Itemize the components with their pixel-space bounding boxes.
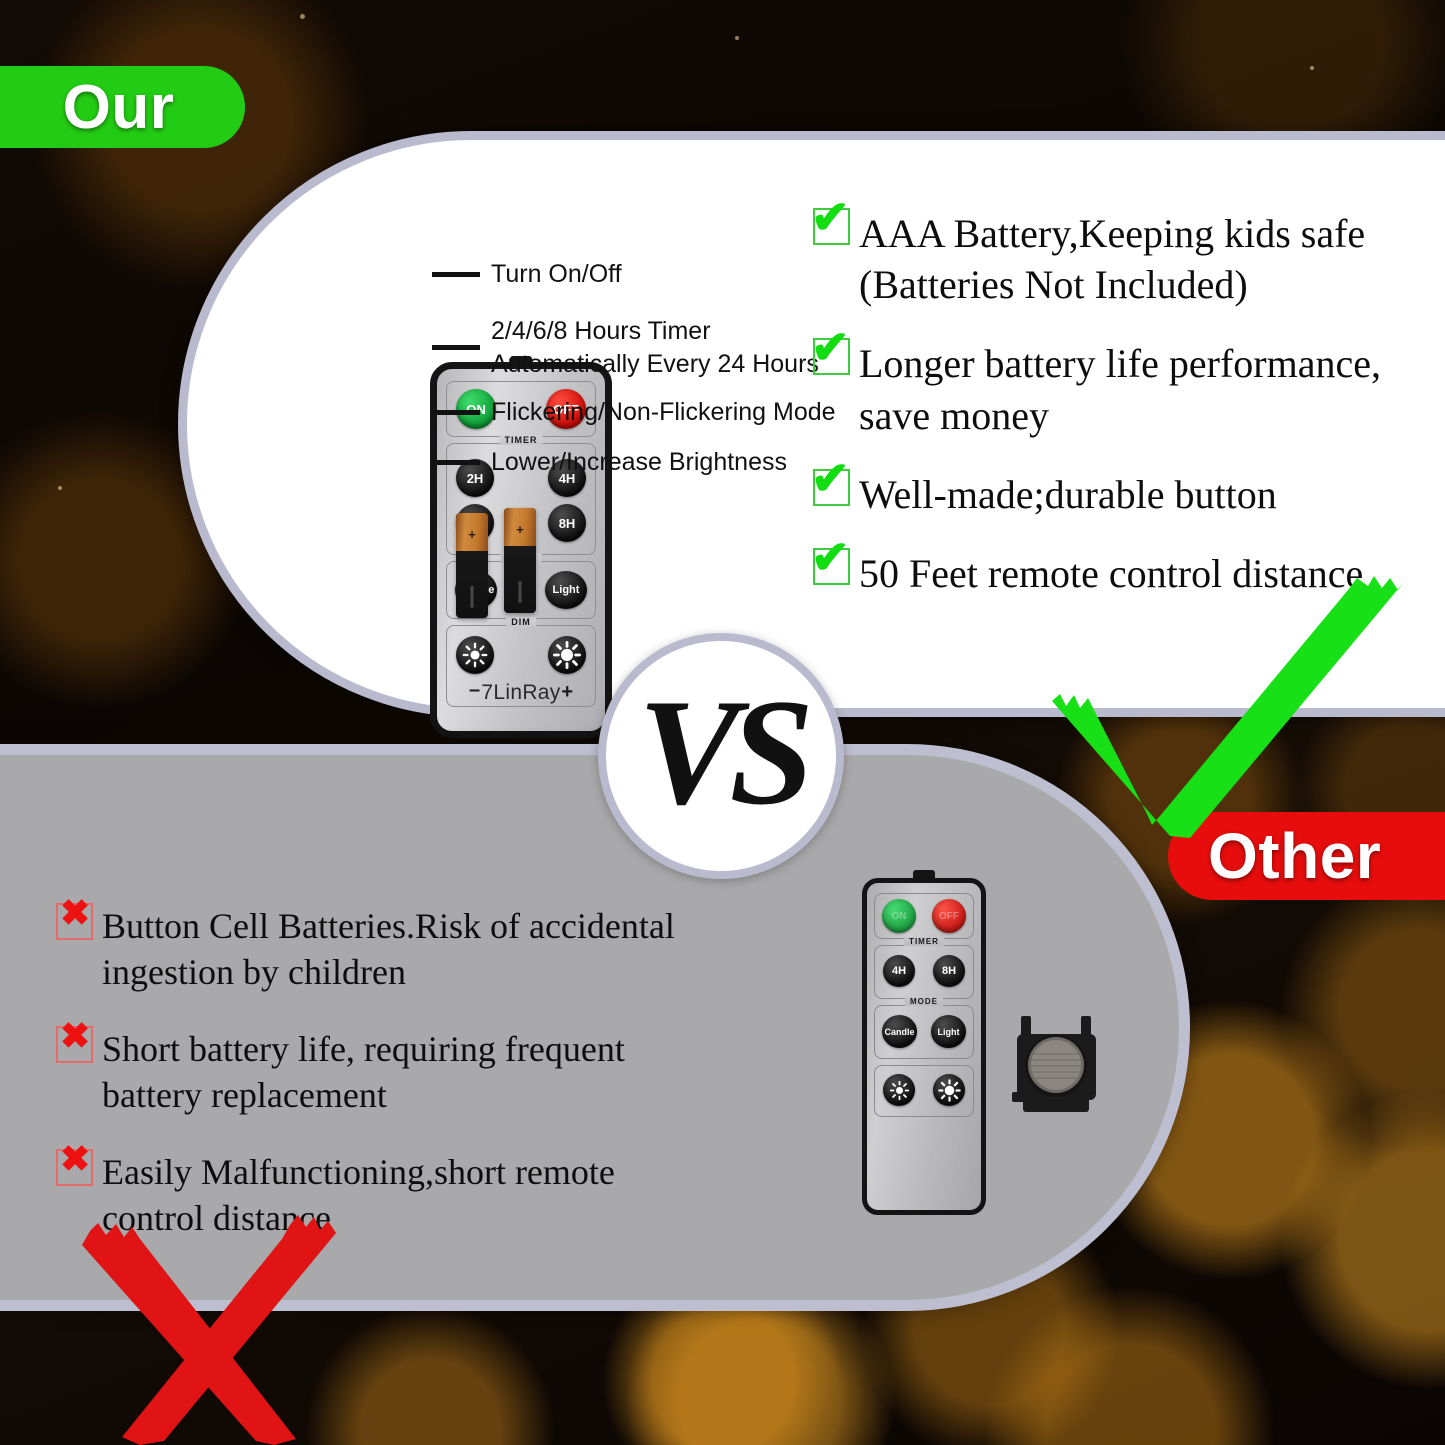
pros-list: ✔ AAA Battery,Keeping kids safe (Batteri… xyxy=(813,208,1433,627)
other-timer-8h-button[interactable]: 8H xyxy=(933,955,965,987)
cons-item-text: Short battery life, requiring frequent b… xyxy=(102,1026,625,1118)
cross-icon: ✖ xyxy=(60,895,90,931)
aaa-battery: + xyxy=(456,513,488,618)
pros-item-text: Well-made;durable button xyxy=(859,469,1277,520)
other-on-label: ON xyxy=(892,911,907,922)
sun-large-icon xyxy=(938,1079,961,1102)
checkbox-crossed: ✖ xyxy=(56,1026,93,1063)
other-badge-label: Other xyxy=(1208,819,1381,893)
other-mode-label: MODE xyxy=(905,997,943,1006)
infographic-canvas: ON OFF TIMER 2H 4H 6H 8H xyxy=(0,0,1445,1445)
other-badge: Other xyxy=(1168,812,1445,900)
other-timer-group: TIMER 4H 8H xyxy=(874,945,974,999)
check-icon: ✔ xyxy=(811,324,850,370)
other-power-group: ON OFF xyxy=(874,893,974,939)
other-timer-8h-label: 8H xyxy=(942,965,956,977)
timer-group-label: TIMER xyxy=(500,435,543,445)
callout-brightness-text: Lower/Increase Brightness xyxy=(491,446,787,479)
callout-power: Turn On/Off xyxy=(432,258,622,291)
battery-plus-mark: + xyxy=(456,528,488,541)
pros-item-text: 50 Feet remote control distance xyxy=(859,548,1363,599)
checkbox-checked: ✔ xyxy=(813,548,850,585)
ir-emitter-nub xyxy=(913,870,935,878)
battery-strip xyxy=(519,581,522,603)
battery-strip xyxy=(471,586,474,608)
sun-small-icon xyxy=(889,1080,910,1101)
our-panel: ON OFF TIMER 2H 4H 6H 8H xyxy=(178,131,1445,717)
cons-item-text: Button Cell Batteries.Risk of accidental… xyxy=(102,903,675,995)
callout-mode: Flickering/Non-Flickering Mode xyxy=(432,396,836,429)
coin-cell-battery-holder xyxy=(1009,1008,1104,1123)
checkbox-crossed: ✖ xyxy=(56,1149,93,1186)
spark-dot xyxy=(300,14,305,19)
callout-dash xyxy=(432,272,480,277)
cross-icon: ✖ xyxy=(60,1141,90,1177)
pros-item-text: Longer battery life performance, save mo… xyxy=(859,338,1381,440)
check-icon: ✔ xyxy=(811,534,850,580)
cons-item-text: Easily Malfunctioning,short remote contr… xyxy=(102,1149,615,1241)
battery-plus-mark: + xyxy=(504,523,536,536)
other-mode-light-button[interactable]: Light xyxy=(931,1015,966,1048)
brightness-down-button[interactable] xyxy=(456,636,494,674)
pros-item-text: AAA Battery,Keeping kids safe (Batteries… xyxy=(859,208,1365,310)
timer-8h-button[interactable]: 8H xyxy=(548,504,586,542)
callout-dash xyxy=(432,345,480,350)
cons-list: ✖ Button Cell Batteries.Risk of accident… xyxy=(56,903,756,1272)
other-mode-candle-label: Candle xyxy=(884,1027,914,1037)
sun-large-icon xyxy=(553,641,581,669)
other-dim-group xyxy=(874,1065,974,1117)
other-brightness-down-button[interactable] xyxy=(883,1074,915,1106)
pros-list-item: ✔ 50 Feet remote control distance xyxy=(813,548,1433,599)
other-mode-candle-button[interactable]: Candle xyxy=(882,1015,917,1048)
callout-dash xyxy=(432,460,480,465)
checkbox-crossed: ✖ xyxy=(56,903,93,940)
spark-dot xyxy=(58,486,62,490)
callout-timer-text: 2/4/6/8 Hours Timer Automatically Every … xyxy=(491,315,819,380)
cons-list-item: ✖ Button Cell Batteries.Risk of accident… xyxy=(56,903,756,995)
vs-badge: VS xyxy=(598,633,844,879)
mode-light-label: Light xyxy=(553,584,580,596)
check-icon: ✔ xyxy=(811,194,850,240)
checkbox-checked: ✔ xyxy=(813,208,850,245)
remote-brand-label: 7LinRay xyxy=(437,681,605,705)
other-mode-light-label: Light xyxy=(938,1027,960,1037)
checkbox-checked: ✔ xyxy=(813,338,850,375)
aaa-battery: + xyxy=(504,508,536,613)
brightness-up-button[interactable] xyxy=(548,636,586,674)
sun-small-icon xyxy=(462,642,488,668)
timer-8h-label: 8H xyxy=(559,516,576,531)
pros-list-item: ✔ AAA Battery,Keeping kids safe (Batteri… xyxy=(813,208,1433,310)
callout-mode-text: Flickering/Non-Flickering Mode xyxy=(491,396,836,429)
vs-label: VS xyxy=(638,676,804,828)
cons-list-item: ✖ Easily Malfunctioning,short remote con… xyxy=(56,1149,756,1241)
cons-list-item: ✖ Short battery life, requiring frequent… xyxy=(56,1026,756,1118)
our-badge-label: Our xyxy=(63,72,175,143)
cross-icon: ✖ xyxy=(60,1018,90,1054)
check-icon: ✔ xyxy=(811,455,850,501)
callout-brightness: Lower/Increase Brightness xyxy=(432,446,787,479)
our-badge: Our xyxy=(0,66,245,148)
other-timer-label: TIMER xyxy=(904,937,944,946)
callout-dash xyxy=(432,410,480,415)
other-remote-control[interactable]: ON OFF TIMER 4H 8H MODE Candle Light xyxy=(862,878,986,1215)
other-timer-4h-button[interactable]: 4H xyxy=(883,955,915,987)
pros-list-item: ✔ Longer battery life performance, save … xyxy=(813,338,1433,440)
spark-dot xyxy=(1310,66,1314,70)
pros-list-item: ✔ Well-made;durable button xyxy=(813,469,1433,520)
dim-group-label: DIM xyxy=(506,617,536,627)
other-off-button[interactable]: OFF xyxy=(932,899,966,933)
other-on-button[interactable]: ON xyxy=(882,899,916,933)
callout-timer: 2/4/6/8 Hours Timer Automatically Every … xyxy=(432,315,819,380)
checkbox-checked: ✔ xyxy=(813,469,850,506)
other-timer-4h-label: 4H xyxy=(892,965,906,977)
mode-light-button[interactable]: Light xyxy=(545,571,587,609)
spark-dot xyxy=(735,36,739,40)
other-brightness-up-button[interactable] xyxy=(933,1074,965,1106)
callout-power-text: Turn On/Off xyxy=(491,258,622,291)
other-mode-group: MODE Candle Light xyxy=(874,1005,974,1059)
other-off-label: OFF xyxy=(939,911,959,922)
